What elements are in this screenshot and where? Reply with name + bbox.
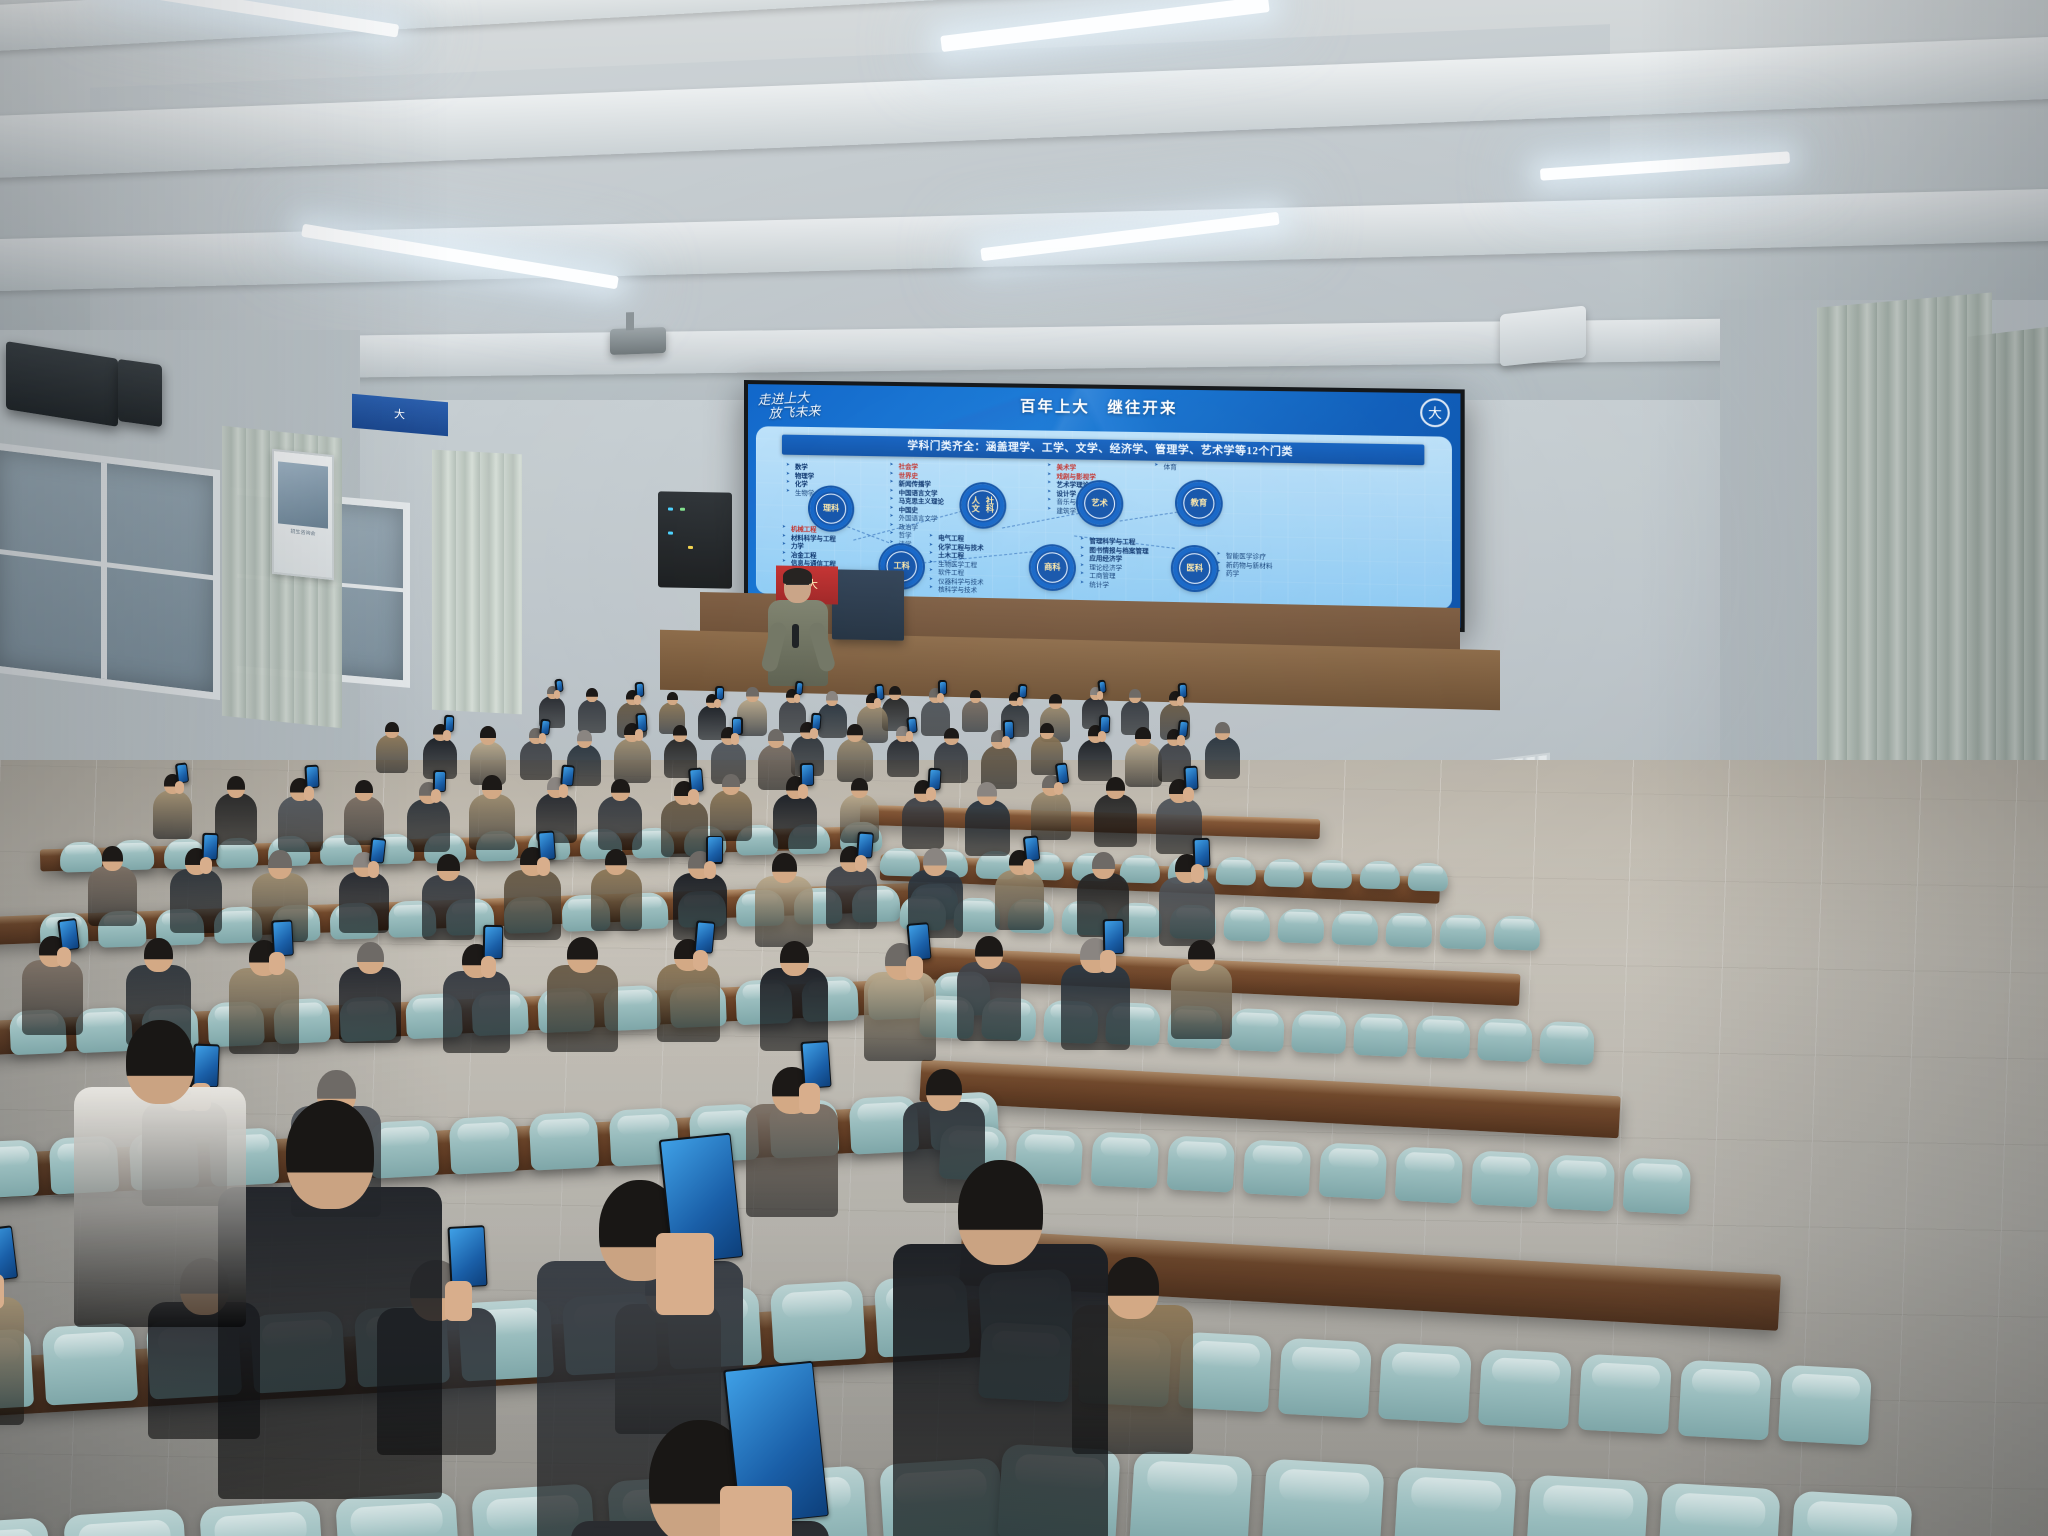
phone-screen — [1194, 839, 1209, 865]
audience-head — [975, 936, 1003, 969]
audience-hand — [855, 855, 867, 872]
phone-screen — [272, 921, 292, 955]
presenter-hair — [783, 568, 812, 584]
smartphone-held-up[interactable] — [368, 838, 386, 864]
audience-hand — [1191, 864, 1204, 883]
audience-head — [357, 942, 384, 974]
phone-screen — [716, 688, 722, 699]
auditorium-chair[interactable] — [449, 1115, 520, 1174]
audience-hand — [714, 699, 721, 708]
audience-head — [944, 728, 959, 745]
audience-torso — [1031, 791, 1071, 840]
audience-head — [126, 1020, 194, 1104]
phone-screen — [484, 927, 502, 958]
phone-screen — [449, 1227, 486, 1287]
audience-torso — [1125, 742, 1162, 787]
auditorium-chair[interactable] — [1493, 916, 1540, 952]
discipline-column-science: 数学物理学化学生物学 — [786, 463, 814, 498]
phone-screen — [940, 681, 946, 693]
phone-screen — [306, 767, 318, 788]
phone-screen — [1104, 920, 1123, 952]
discipline-column-medicine: 智能医学诊疗新药物与新材料药学 — [1217, 552, 1273, 579]
gear-label: 医科 — [1179, 553, 1210, 584]
discipline-item: 统计学 — [1080, 580, 1149, 590]
phone-screen — [1178, 721, 1186, 736]
audience-head — [1188, 940, 1215, 971]
audience-torso — [1078, 739, 1112, 781]
audience-torso — [422, 875, 475, 940]
audience-torso — [278, 796, 323, 852]
audience-hand — [798, 784, 808, 799]
phone-screen — [370, 839, 384, 862]
auditorium-chair[interactable] — [1539, 1021, 1595, 1065]
audience-torso — [965, 800, 1010, 856]
audience-head — [667, 692, 678, 705]
smartphone-held-up[interactable] — [447, 1226, 487, 1289]
auditorium-chair[interactable] — [1471, 1150, 1540, 1207]
audience-head — [970, 690, 981, 703]
audience-hand — [634, 695, 641, 705]
phone-screen — [907, 718, 915, 732]
audience-head — [923, 848, 947, 876]
audience-head — [746, 687, 759, 702]
audience-torso — [962, 700, 988, 732]
auditorium-chair[interactable] — [1395, 1147, 1464, 1204]
phone-screen — [1100, 716, 1109, 731]
phone-screen — [708, 837, 722, 862]
audience-head — [605, 849, 627, 875]
auditorium-chair[interactable] — [1478, 1348, 1572, 1429]
gear-label-line: 艺术 — [1091, 499, 1107, 508]
discipline-item: 药学 — [1217, 569, 1273, 579]
presenter-glasses-icon — [786, 584, 809, 590]
auditorium-chair[interactable] — [1331, 910, 1378, 946]
audience-hand — [269, 952, 285, 975]
audience-hand — [794, 694, 800, 703]
phone-screen — [802, 1042, 830, 1088]
gear-commerce: 商科 — [1031, 546, 1074, 590]
auditorium-chair[interactable] — [1578, 1354, 1672, 1435]
audience-torso — [614, 738, 651, 783]
audience-head — [768, 729, 784, 748]
wall-speaker — [118, 359, 162, 427]
phone-screen — [561, 767, 573, 786]
audience-head — [926, 1069, 962, 1111]
audience-torso — [893, 1244, 1108, 1536]
gear-label-line: 人文 — [969, 497, 983, 514]
smartphone-held-up[interactable] — [57, 918, 80, 951]
audience-torso — [443, 971, 510, 1053]
audience-head — [144, 938, 173, 972]
phone-screen — [796, 683, 802, 694]
auditorium-chair[interactable] — [1216, 857, 1257, 886]
audience-head — [1040, 723, 1054, 739]
auditorium-chair[interactable] — [1439, 914, 1486, 950]
phone-screen — [1185, 767, 1197, 789]
phone-screen — [539, 832, 555, 859]
slide-subtitle: 学科门类齐全：涵盖理学、工学、文学、经济学、管理学、艺术学等12个门类 — [782, 435, 1424, 466]
audience-torso — [218, 1187, 442, 1499]
gear-education: 教育 — [1177, 482, 1221, 526]
auditorium-chair[interactable] — [1623, 1158, 1692, 1215]
audience-hand — [906, 731, 913, 742]
audience-hand — [1183, 787, 1194, 802]
discipline-column-education: 体育 — [1154, 463, 1177, 472]
audience-torso — [469, 794, 515, 850]
auditorium-chair[interactable] — [1477, 1018, 1533, 1062]
smartphone-held-up[interactable] — [1192, 838, 1210, 868]
discipline-item: 体育 — [1154, 463, 1177, 472]
gear-label-line: 商科 — [1044, 563, 1060, 572]
phone-screen — [177, 764, 188, 782]
audience-torso — [1094, 794, 1137, 847]
audience-hand — [688, 789, 699, 805]
auditorium-chair[interactable] — [1129, 1451, 1252, 1536]
audience-hand — [1098, 731, 1106, 742]
auditorium-chair[interactable] — [1261, 1459, 1384, 1536]
audience-torso — [88, 866, 137, 926]
auditorium-chair[interactable] — [1091, 1132, 1160, 1189]
phone-screen — [1179, 684, 1186, 696]
audience-torso — [902, 797, 944, 849]
audience-head — [673, 725, 687, 742]
phone-screen — [733, 719, 741, 734]
phone-screen — [445, 716, 452, 730]
auditorium-chair[interactable] — [60, 841, 103, 872]
phone-screen — [908, 923, 930, 959]
audience-head — [577, 730, 592, 748]
audience-head — [851, 778, 868, 798]
phone-screen — [929, 769, 940, 788]
audience-hand — [1100, 950, 1116, 973]
audience-hand — [937, 693, 944, 703]
audience-torso — [710, 790, 752, 841]
audience-head — [780, 941, 809, 976]
audience-torso — [504, 870, 561, 940]
audience-head — [102, 846, 123, 871]
audience-torso — [1171, 964, 1232, 1039]
audience-hand — [537, 857, 550, 876]
audience-head — [847, 724, 863, 742]
audience-torso — [229, 968, 299, 1054]
audience-hand — [368, 861, 379, 878]
phone-screen — [857, 833, 872, 857]
auditorium-chair[interactable] — [1243, 1139, 1312, 1196]
audience-hand — [559, 784, 568, 798]
audience-torso — [170, 869, 222, 933]
audience-torso — [995, 870, 1044, 930]
wall-poster: 招生咨询会 — [272, 449, 334, 581]
gear-arts: 艺术 — [1078, 482, 1121, 525]
phone-screen — [695, 922, 713, 952]
audience-torso — [661, 800, 708, 857]
audience-torso — [773, 794, 817, 849]
gear-humanities: 人文社科 — [961, 484, 1004, 527]
audience-head — [889, 686, 901, 700]
auditorium-chair[interactable] — [75, 1007, 133, 1053]
auditorium-chair[interactable] — [529, 1111, 600, 1170]
auditorium-chair[interactable] — [1319, 1143, 1388, 1200]
audience-hand — [539, 733, 546, 744]
phone-screen — [194, 1045, 218, 1086]
ceiling-projector — [610, 327, 666, 355]
phone-screen — [1019, 686, 1026, 697]
lecture-hall-photo: 招生咨询会 大 走进上大 放飞未来 百年上大 继往开来 大 — [0, 0, 2048, 1536]
presenter-microphone — [792, 624, 799, 648]
audience-torso — [864, 972, 936, 1061]
auditorium-chair[interactable] — [1291, 1010, 1347, 1054]
audience-hand — [704, 861, 716, 879]
audience-torso — [887, 738, 919, 777]
audience-hand — [810, 728, 818, 739]
audience-torso — [1205, 736, 1240, 779]
audience-hand — [1177, 696, 1184, 706]
audience-head — [355, 780, 373, 801]
connector-line — [1120, 511, 1183, 522]
audience-head — [268, 850, 292, 879]
auditorium-chair[interactable] — [1678, 1359, 1772, 1440]
window-left-1 — [0, 442, 220, 700]
auditorium-chair[interactable] — [1278, 1337, 1372, 1418]
phone-screen — [876, 685, 883, 698]
audience-hand — [57, 947, 71, 967]
phone-screen — [59, 920, 78, 950]
audience-hand — [799, 1083, 820, 1114]
phone-screen — [812, 714, 820, 728]
gear-label-line: 工科 — [894, 562, 910, 571]
audience-head — [977, 782, 997, 805]
audience-torso — [657, 964, 720, 1042]
smartphone-held-up[interactable] — [800, 1040, 831, 1089]
smartphone-held-up[interactable] — [537, 831, 556, 861]
audience-hand — [1023, 859, 1034, 875]
smartphone-held-up[interactable] — [694, 921, 716, 955]
audience-hand — [304, 786, 314, 801]
smartphone-held-up[interactable] — [800, 763, 814, 786]
auditorium-chair[interactable] — [1778, 1365, 1872, 1446]
audience-head — [286, 1100, 374, 1209]
audience-head — [480, 726, 496, 745]
audience-head — [385, 722, 399, 738]
auditorium-chair[interactable] — [0, 1140, 39, 1199]
auditorium-chair[interactable] — [1525, 1475, 1648, 1536]
phone-screen — [540, 720, 548, 734]
podium — [832, 569, 904, 640]
phone-screen — [434, 771, 444, 790]
phone-screen — [556, 680, 562, 691]
auditorium-chair[interactable] — [1277, 908, 1324, 944]
audience-torso — [407, 799, 450, 852]
smartphone-held-up[interactable] — [483, 925, 504, 959]
audience-hand — [1002, 736, 1010, 748]
auditorium-chair[interactable] — [1385, 912, 1432, 948]
gear-medicine: 医科 — [1173, 547, 1217, 591]
audience-head — [1135, 727, 1151, 746]
audience-hand — [1054, 782, 1063, 795]
audience-head — [611, 779, 630, 801]
audience-torso — [215, 793, 257, 845]
auditorium-chair[interactable] — [1415, 1015, 1471, 1059]
auditorium-chair[interactable] — [1393, 1467, 1516, 1536]
audience-head — [1106, 777, 1125, 799]
gear-label: 人文社科 — [968, 490, 999, 521]
audience-torso — [957, 962, 1021, 1041]
phone-screen — [203, 834, 217, 858]
audience-head — [437, 854, 460, 881]
poster-image — [278, 461, 328, 528]
gear-label: 商科 — [1037, 552, 1068, 583]
gear-label-line: 理科 — [823, 504, 839, 513]
smartphone-held-up[interactable] — [906, 922, 931, 961]
audience-head — [227, 776, 245, 798]
gear-label: 理科 — [816, 493, 846, 524]
audience-hand — [906, 956, 923, 980]
smartphone-held-up[interactable] — [1023, 836, 1041, 862]
gear-science: 理科 — [810, 487, 852, 530]
discipline-column-commerce: 管理科学与工程图书情报与档案管理应用经济学理论经济学工商管理统计学 — [1080, 537, 1149, 590]
smartphone-held-up[interactable] — [706, 836, 723, 864]
audience-torso — [520, 740, 552, 780]
audience-head — [958, 1160, 1043, 1265]
audience-hand — [1017, 697, 1023, 706]
audience-hand — [1097, 691, 1103, 700]
audience-head — [1049, 694, 1062, 709]
auditorium-chair[interactable] — [1657, 1482, 1780, 1536]
audience-head — [567, 937, 598, 973]
audience-hand — [200, 857, 212, 874]
university-logo-icon: 大 — [1420, 398, 1450, 427]
auditorium-chair[interactable] — [1789, 1490, 1912, 1536]
gear-label-line: 教育 — [1191, 499, 1208, 508]
phone-screen — [637, 714, 646, 731]
audience-hand — [1177, 735, 1185, 746]
discipline-item: 生物学 — [786, 488, 814, 497]
gear-label-line: 社科 — [983, 497, 997, 514]
audience-torso — [1061, 965, 1130, 1050]
gear-label: 艺术 — [1084, 488, 1115, 519]
audience-hand — [443, 730, 451, 741]
phone-screen — [1056, 764, 1067, 783]
auditorium-chair[interactable] — [1229, 1008, 1285, 1052]
audience-torso — [339, 967, 401, 1043]
audience-hand — [693, 950, 708, 971]
audience-hand — [635, 729, 643, 741]
air-conditioner — [1500, 305, 1586, 366]
audience-head — [826, 691, 838, 706]
auditorium-chair[interactable] — [1353, 1013, 1409, 1057]
smartphone-held-up[interactable] — [304, 765, 319, 789]
curtain-left — [432, 450, 522, 715]
gear-label-line: 医科 — [1186, 564, 1203, 573]
audience-hand — [175, 781, 184, 794]
audience-hand — [656, 1233, 714, 1315]
phone-screen — [1004, 721, 1013, 737]
auditorium-chair[interactable] — [1547, 1154, 1616, 1211]
audience-torso — [339, 872, 389, 933]
auditorium-chair[interactable] — [1360, 861, 1401, 890]
av-rack — [658, 491, 732, 588]
auditorium-chair[interactable] — [1378, 1343, 1472, 1424]
audience-head — [586, 688, 598, 702]
audience-torso — [837, 738, 873, 782]
audience-torso — [22, 960, 83, 1035]
gear-label: 教育 — [1183, 488, 1214, 519]
smartphone-held-up[interactable] — [1102, 919, 1124, 954]
audience-torso — [547, 965, 618, 1052]
smartphone-held-up[interactable] — [271, 920, 294, 957]
audience-head — [1106, 1257, 1159, 1319]
audience-torso — [153, 790, 192, 839]
phone-screen — [801, 765, 812, 785]
audience-hand — [0, 1274, 4, 1309]
audience-torso — [74, 1087, 246, 1327]
poster-caption: 招生咨询会 — [278, 527, 328, 540]
auditorium-chair[interactable] — [1223, 906, 1270, 942]
audience-torso — [376, 734, 408, 773]
audience-torso — [760, 968, 828, 1051]
audience-hand — [720, 1486, 792, 1536]
audience-torso — [746, 1104, 838, 1217]
audience-head — [1215, 722, 1230, 740]
audience-hand — [731, 733, 739, 745]
audience-hand — [481, 956, 496, 978]
auditorium-chair[interactable] — [42, 1322, 138, 1405]
audience-head — [722, 774, 740, 795]
discipline-item: 核科学与技术 — [929, 585, 984, 595]
smartphone-held-up[interactable] — [193, 1044, 220, 1088]
phone-screen — [690, 769, 703, 791]
audience-torso — [0, 1297, 24, 1425]
audience-torso — [598, 796, 642, 850]
phone-screen — [1025, 837, 1039, 860]
auditorium-chair[interactable] — [770, 1280, 866, 1363]
auditorium-chair[interactable] — [1167, 1135, 1236, 1192]
audience-torso — [591, 869, 642, 931]
audience-head — [1129, 689, 1141, 703]
audience-torso — [578, 699, 606, 733]
audience-torso — [818, 703, 847, 738]
audience-head — [1092, 852, 1115, 879]
audience-hand — [445, 1281, 472, 1321]
phone-screen — [1099, 681, 1105, 692]
smartphone-held-up[interactable] — [856, 831, 874, 858]
discipline-column-engineering-b: 电气工程化学工程与技术土木工程生物医学工程软件工程仪器科学与技术核科学与技术 — [929, 534, 984, 595]
audience-torso — [826, 866, 877, 929]
audience-head — [772, 853, 797, 883]
phone-screen — [636, 683, 643, 695]
audience-torso — [755, 876, 813, 947]
audience-hand — [554, 690, 560, 699]
audience-head — [482, 775, 502, 799]
audience-torso — [1159, 877, 1215, 946]
